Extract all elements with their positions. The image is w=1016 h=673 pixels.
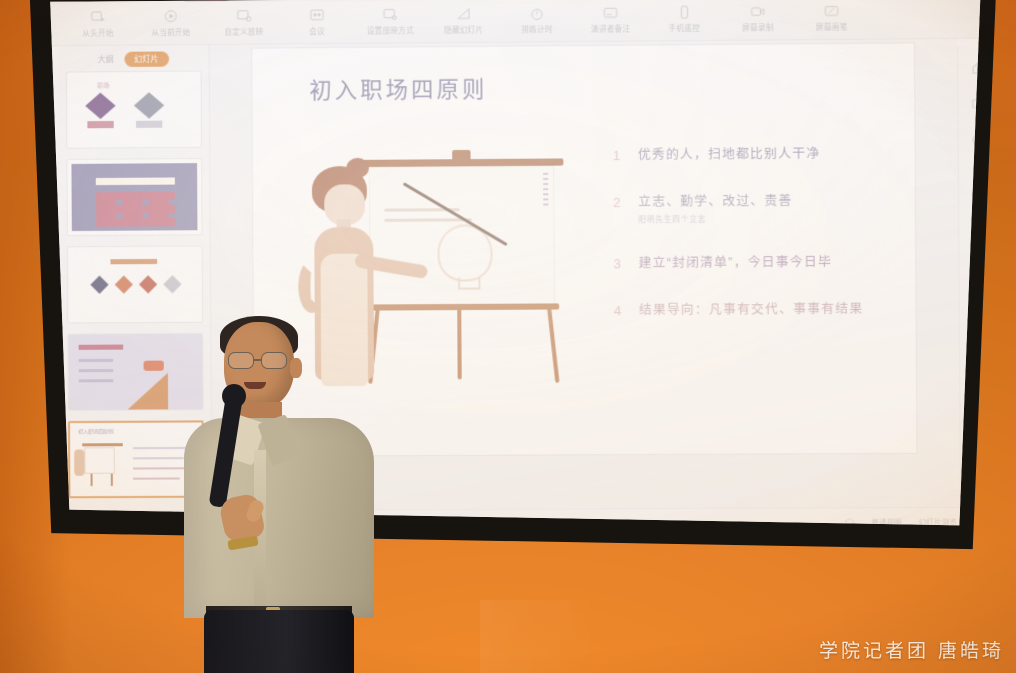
- ribbon-label-8: 手机遥控: [668, 23, 700, 34]
- speaker-ear: [290, 358, 302, 378]
- presentation-app-window: 开始 放映 插入 设计 查找命令 协作 分享: [32, 0, 990, 550]
- ribbon-button-hide-slide[interactable]: 隐藏幻灯片: [437, 6, 490, 36]
- microphone-head: [222, 384, 246, 408]
- ribbon-button-screen-pen[interactable]: 屏幕画笔: [805, 3, 859, 33]
- ribbon-button-phone-remote[interactable]: 手机遥控: [657, 4, 710, 34]
- ribbon-label-10: 屏幕画笔: [816, 21, 848, 33]
- bullet-item-1: 1 优秀的人，扫地都比别人干净: [611, 144, 904, 164]
- bullet-number-3: 3: [612, 254, 622, 271]
- bullet-text-4: 结果导向：凡事有交代、事事有结果: [639, 302, 864, 318]
- bullet-text-3: 建立“封闭清单”，今日事今日毕: [639, 255, 832, 270]
- bullet-number-2: 2: [612, 193, 622, 210]
- ribbon-button-from-current[interactable]: 从当前开始: [144, 8, 197, 38]
- projection-screen-surface: 开始 放映 插入 设计 查找命令 协作 分享: [32, 0, 990, 550]
- tab-outline[interactable]: 大纲: [98, 54, 114, 65]
- wall-seam: [480, 600, 600, 673]
- slide-bullet-list: 1 优秀的人，扫地都比别人干净 2 立志、勤学、改过、责善 阳明先生四个立志: [611, 144, 905, 348]
- ribbon-label-4: 设置放映方式: [367, 25, 414, 37]
- ribbon-label-1: 从当前开始: [151, 27, 190, 39]
- ribbon-button-meeting[interactable]: 会议: [291, 7, 344, 37]
- speaker-mouth: [244, 382, 266, 389]
- photo-watermark: 学院记者团 唐皓琦: [819, 636, 1004, 663]
- settings-show-icon: [381, 7, 399, 23]
- custom-show-icon: [235, 8, 253, 24]
- thumbnail-slide-2[interactable]: [66, 158, 202, 236]
- ribbon-label-7: 演讲者备注: [591, 23, 630, 35]
- speaker-person: [178, 310, 378, 673]
- timer-icon: [528, 6, 546, 22]
- slide-title: 初入职场四原则: [309, 71, 487, 105]
- meeting-icon: [308, 7, 326, 23]
- bullet-subtext-2: 阳明先生四个立志: [638, 213, 792, 225]
- speaker-trousers: [204, 610, 354, 673]
- hide-slide-icon: [454, 6, 472, 22]
- ribbon-label-2: 自定义放映: [224, 26, 263, 38]
- ribbon-button-setup-show[interactable]: 设置放映方式: [364, 7, 417, 37]
- ribbon-label-6: 排练计时: [521, 24, 553, 35]
- slideshow-start-icon: [89, 9, 107, 25]
- presenter-notes-icon: [601, 5, 619, 21]
- speaker-glasses: [228, 352, 290, 370]
- thumbnail-tabs: 大纲 幻灯片: [66, 51, 201, 67]
- ribbon-button-rehearse[interactable]: 排练计时: [510, 5, 563, 35]
- bullet-text-1: 优秀的人，扫地都比别人干净: [638, 146, 820, 162]
- phone-remote-icon: [675, 4, 694, 20]
- ribbon-button-from-beginning[interactable]: 从头开始: [71, 9, 124, 39]
- tab-slides[interactable]: 幻灯片: [124, 51, 169, 67]
- ribbon-button-presenter-notes[interactable]: 演讲者备注: [584, 5, 637, 35]
- bullet-text-2: 立志、勤学、改过、责善: [638, 194, 792, 209]
- play-circle-icon: [162, 9, 180, 25]
- ribbon-label-9: 屏幕录制: [742, 22, 774, 34]
- ribbon-button-screen-record[interactable]: 屏幕录制: [731, 4, 784, 34]
- ribbon-label-5: 隐藏幻灯片: [444, 24, 483, 36]
- bullet-item-2: 2 立志、勤学、改过、责善 阳明先生四个立志: [612, 191, 905, 226]
- ribbon-label-0: 从头开始: [82, 27, 113, 38]
- thumbnail-slide-1[interactable]: 职场: [66, 70, 202, 148]
- screen-pen-icon: [822, 3, 841, 20]
- bullet-number-1: 1: [611, 146, 621, 163]
- bullet-item-3: 3 建立“封闭清单”，今日事今日毕: [612, 252, 905, 272]
- ribbon-button-custom-show[interactable]: 自定义放映: [217, 8, 270, 38]
- screenshot-root: 开始 放映 插入 设计 查找命令 协作 分享: [0, 0, 1016, 673]
- bullet-number-4: 4: [612, 301, 622, 318]
- bullet-item-4: 4 结果导向：凡事有交代、事事有结果: [612, 299, 905, 319]
- screen-record-icon: [749, 4, 768, 21]
- ribbon-label-3: 会议: [309, 26, 325, 37]
